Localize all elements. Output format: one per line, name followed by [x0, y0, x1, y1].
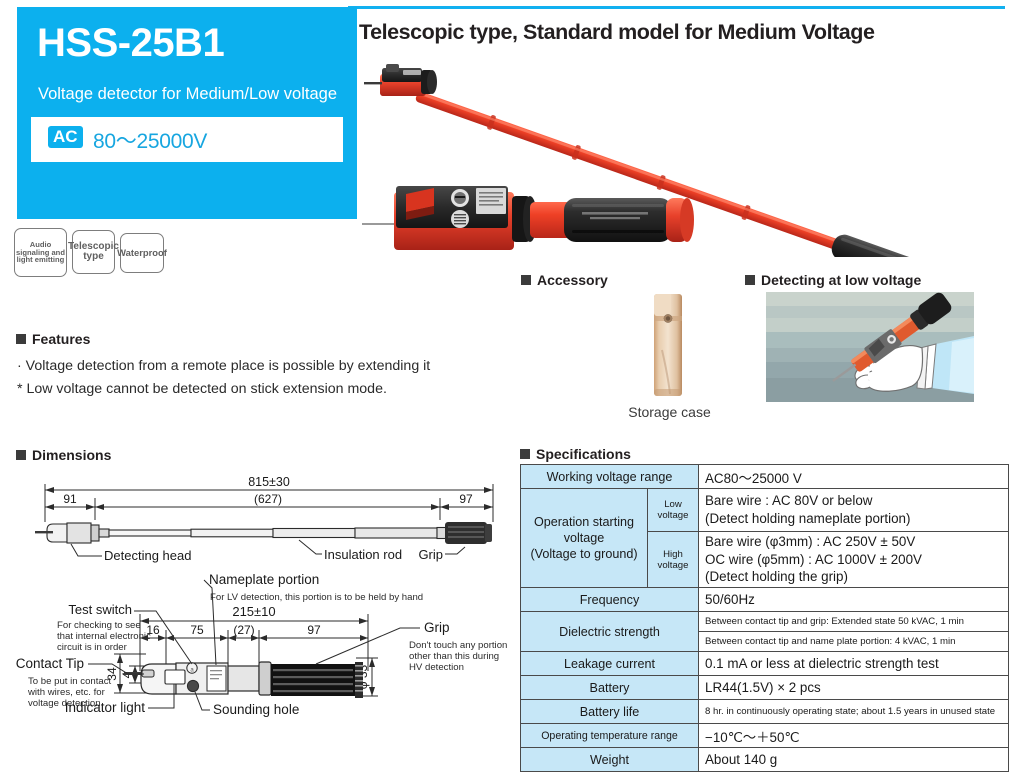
detail-d3-label: (27)	[233, 623, 254, 637]
callout-nameplate-note: For LV detection, this portion is to be …	[210, 592, 423, 603]
op-key-line1: Operation starting	[534, 515, 634, 529]
table-row: Dielectric strength Between contact tip …	[521, 612, 1009, 632]
label-insulation-rod: Insulation rod	[324, 547, 402, 562]
spec-value-frequency: 50/60Hz	[699, 588, 1009, 612]
spec-key-weight: Weight	[521, 748, 699, 772]
detecting-heading: Detecting at low voltage	[745, 272, 921, 288]
spec-key-leakage-current: Leakage current	[521, 652, 699, 676]
features-heading: Features	[16, 331, 90, 347]
page-title: HSS-25B1	[37, 21, 224, 66]
spec-key-battery: Battery	[521, 676, 699, 700]
table-row: Battery LR44(1.5V) × 2 pcs	[521, 676, 1009, 700]
spec-value-weight: About 140 g	[699, 748, 1009, 772]
ac-badge: AC	[48, 126, 83, 148]
storage-case-image	[648, 290, 688, 400]
audio-signaling-badge: Audio signaling and light emitting	[14, 228, 67, 277]
table-row: Operation starting voltage (Voltage to g…	[521, 489, 1009, 532]
dimensions-diagram-detail: 215±10 16 75 (27) 97 34 4 φ 33 a	[16, 566, 516, 734]
callout-indicator-light: Indicator light	[65, 700, 146, 715]
feature-badge-group: Audio signaling and light emitting Teles…	[14, 228, 164, 277]
callout-grip: Grip	[424, 620, 450, 635]
callout-nameplate: Nameplate portion	[209, 572, 319, 587]
spec-value-working-voltage: AC80〜25000 V	[699, 465, 1009, 489]
table-row: Weight About 140 g	[521, 748, 1009, 772]
features-list: · Voltage detection from a remote place …	[17, 355, 487, 401]
headline: Telescopic type, Standard model for Medi…	[359, 20, 1019, 45]
spec-value-dielectric-1: Between contact tip and grip: Extended s…	[699, 612, 1009, 632]
ac-range-value: 80〜25000V	[93, 125, 207, 155]
spec-value-leakage-current: 0.1 mA or less at dielectric strength te…	[699, 652, 1009, 676]
storage-case-caption: Storage case	[617, 404, 722, 420]
specifications-table: Working voltage range AC80〜25000 V Opera…	[520, 464, 1009, 772]
bullet-square-icon	[16, 334, 26, 344]
dim-middle-label: (627)	[254, 492, 282, 506]
table-row: Operating temperature range −10℃〜＋50℃	[521, 724, 1009, 748]
dim-total-label: 815±30	[248, 475, 290, 489]
dimensions-heading-label: Dimensions	[32, 447, 111, 463]
spec-key-operation-starting-voltage: Operation starting voltage (Voltage to g…	[521, 489, 648, 588]
op-key-line2: voltage	[564, 531, 605, 545]
spec-key-dielectric-strength: Dielectric strength	[521, 612, 699, 652]
spec-value-high-voltage: Bare wire (φ3mm) : AC 250V ± 50VOC wire …	[699, 532, 1009, 588]
callout-grip-note: Don't touch any portion other than this …	[409, 640, 510, 673]
bullet-square-icon	[521, 275, 531, 285]
detail-d4-label: 97	[307, 623, 321, 637]
spec-value-low-voltage: Bare wire : AC 80V or below(Detect holdi…	[699, 489, 1009, 532]
bullet-square-icon	[745, 275, 755, 285]
detail-d2-label: 75	[190, 623, 204, 637]
spec-value-operating-temperature: −10℃〜＋50℃	[699, 724, 1009, 748]
spec-key-frequency: Frequency	[521, 588, 699, 612]
voltage-range-box: AC 80〜25000V	[31, 117, 343, 162]
spec-value-battery: LR44(1.5V) × 2 pcs	[699, 676, 1009, 700]
table-row: Working voltage range AC80〜25000 V	[521, 465, 1009, 489]
callout-test-switch: Test switch	[68, 602, 132, 617]
dimensions-heading: Dimensions	[16, 447, 111, 463]
spec-key-working-voltage: Working voltage range	[521, 465, 699, 489]
feature-note: * Low voltage cannot be detected on stic…	[17, 378, 487, 401]
collapsed-unit	[362, 186, 694, 250]
spec-value-dielectric-2: Between contact tip and name plate porti…	[699, 632, 1009, 652]
accessory-heading-label: Accessory	[537, 272, 608, 288]
table-row: Frequency 50/60Hz	[521, 588, 1009, 612]
product-subtitle: Voltage detector for Medium/Low voltage	[38, 85, 337, 104]
callout-sounding-hole: Sounding hole	[213, 702, 299, 717]
specifications-heading: Specifications	[520, 446, 631, 462]
label-grip: Grip	[418, 547, 443, 562]
table-row: Battery life 8 hr. in continuously opera…	[521, 700, 1009, 724]
feature-item: · Voltage detection from a remote place …	[17, 355, 487, 378]
dim-left-label: 91	[63, 492, 77, 506]
spec-key-operating-temperature: Operating temperature range	[521, 724, 699, 748]
detecting-illustration	[766, 292, 974, 402]
spec-subkey-low-voltage: Low voltage	[648, 489, 699, 532]
label-detecting-head: Detecting head	[104, 548, 191, 563]
callout-test-switch-note: For checking to see that internal electr…	[57, 620, 154, 653]
bullet-square-icon	[520, 449, 530, 459]
product-hero-panel: HSS-25B1 Voltage detector for Medium/Low…	[17, 7, 357, 219]
telescopic-type-badge: Telescopic type	[72, 230, 115, 274]
spec-value-battery-life: 8 hr. in continuously operating state; a…	[699, 700, 1009, 724]
top-accent-rule	[348, 6, 1005, 9]
specifications-heading-label: Specifications	[536, 446, 631, 462]
bullet-square-icon	[16, 450, 26, 460]
spec-key-battery-life: Battery life	[521, 700, 699, 724]
dimensions-diagram-extended: 815±30 91 (627) 97 Detecting head Insula…	[16, 468, 508, 563]
features-heading-label: Features	[32, 331, 90, 347]
accessory-heading: Accessory	[521, 272, 608, 288]
table-row: Leakage current 0.1 mA or less at dielec…	[521, 652, 1009, 676]
spec-subkey-high-voltage: High voltage	[648, 532, 699, 588]
dim-right-label: 97	[459, 492, 473, 506]
product-photo	[360, 52, 1010, 257]
waterproof-badge: Waterproof	[120, 233, 164, 273]
op-key-line3: (Voltage to ground)	[530, 547, 637, 561]
callout-contact-tip: Contact Tip	[16, 656, 84, 671]
detail-total-label: 215±10	[232, 604, 275, 619]
detecting-heading-label: Detecting at low voltage	[761, 272, 921, 288]
